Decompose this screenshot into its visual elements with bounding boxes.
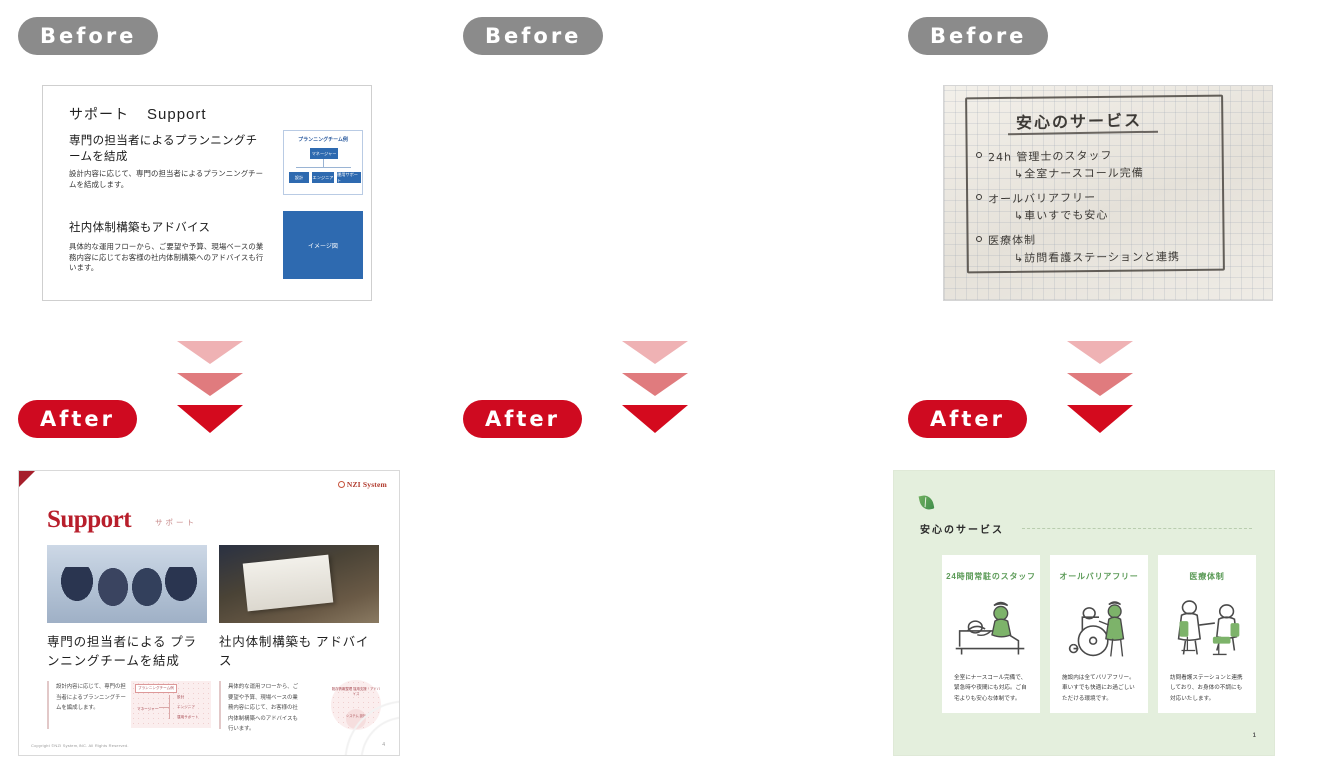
- diagram-node-2: 運用サポート: [177, 715, 199, 720]
- org-line-vertical: [323, 159, 324, 167]
- arrow-triangle-light-icon: [622, 341, 688, 364]
- diagram-tag: プランニングチーム例: [135, 684, 177, 693]
- before-support-body-2: 具体的な運用フローから、ご要望や予算、現場ベースの業務内容に応じてお客様の社内体…: [69, 242, 265, 274]
- column-kankeijinko: Before 関係人口とは 関係人口とは、移住した定住者でもなく、一時的な観光に…: [890, 0, 1333, 775]
- diagram-node-1: エンジニア: [177, 705, 195, 710]
- before-slide-support: サポートSupport 専門の担当者によるプランニングチームを結成 設計内容に応…: [42, 85, 372, 301]
- transition-arrows-1: [177, 341, 243, 433]
- diagram-line-vertical: [169, 695, 170, 719]
- transition-arrows-3: [1067, 341, 1133, 433]
- arrow-triangle-mid-icon: [622, 373, 688, 396]
- before-badge-3: Before: [908, 17, 1048, 55]
- after-badge-3: After: [908, 400, 1027, 438]
- before-badge-1: Before: [18, 17, 158, 55]
- after-support-block-1: 設計内容に応じて、専門の担当者によるプランニングチームを編成します。 プランニン…: [47, 681, 211, 729]
- after-support-body-1: 設計内容に応じて、専門の担当者によるプランニングチームを編成します。: [56, 682, 128, 714]
- logo-text: NZI System: [347, 480, 387, 489]
- after-slide-support: NZI System Support サポート 専門の担当者による プランニング…: [18, 470, 400, 756]
- team-photo: [47, 545, 207, 623]
- corner-accent: [19, 471, 35, 487]
- before-support-heading-1: 専門の担当者によるプランニングチームを結成: [69, 134, 269, 165]
- column-support: Before サポートSupport 専門の担当者によるプランニングチームを結成…: [0, 0, 445, 775]
- accent-bar: [47, 681, 49, 729]
- before-org-chart: プランニングチーム例 マネージャー 設計 エンジニア 運用サポート: [283, 130, 363, 195]
- diagram-line-horizontal: [159, 707, 169, 708]
- diagram-manager: マネージャー: [137, 707, 158, 712]
- arrow-triangle-light-icon: [177, 341, 243, 364]
- org-node-2: 運用サポート: [337, 172, 361, 183]
- transition-arrows-2: [622, 341, 688, 433]
- after-support-page-number: 4: [382, 742, 385, 748]
- nzi-system-logo: NZI System: [338, 480, 387, 489]
- after-support-title-en: Support: [47, 506, 131, 534]
- after-support-title-ja: サポート: [155, 517, 197, 528]
- title-ja: サポート: [69, 106, 129, 122]
- after-support-footer: Copyright ©NZI System,INC. All Rights Re…: [31, 743, 129, 748]
- before-image-placeholder: イメージ図: [283, 211, 363, 279]
- after-badge-2: After: [463, 400, 582, 438]
- org-node-0: 設計: [289, 172, 309, 183]
- arrow-triangle-dark-icon: [1067, 405, 1133, 433]
- accent-bar: [219, 681, 221, 729]
- arrow-triangle-mid-icon: [1067, 373, 1133, 396]
- arrow-triangle-dark-icon: [622, 405, 688, 433]
- org-node-1: エンジニア: [312, 172, 334, 183]
- logo-ring-icon: [338, 481, 345, 488]
- title-en: Support: [147, 106, 207, 123]
- after-org-diagram: プランニングチーム例 マネージャー 設計 エンジニア 運用サポート: [131, 681, 211, 728]
- meeting-photo: [219, 545, 379, 623]
- arrow-triangle-dark-icon: [177, 405, 243, 433]
- org-chart-caption: プランニングチーム例: [284, 136, 362, 143]
- after-support-heading-2: 社内体制構築も アドバイス: [219, 633, 379, 672]
- before-badge-2: Before: [463, 17, 603, 55]
- diagram-node-0: 設計: [177, 695, 184, 700]
- after-badge-1: After: [18, 400, 137, 438]
- arrow-triangle-mid-icon: [177, 373, 243, 396]
- after-support-heading-1: 専門の担当者による プランニングチームを結成: [47, 633, 207, 672]
- arrow-triangle-light-icon: [1067, 341, 1133, 364]
- decorative-swirl: [335, 695, 400, 756]
- org-node-manager: マネージャー: [310, 148, 338, 159]
- before-support-heading-2: 社内体制構築もアドバイス: [69, 221, 279, 237]
- org-line-horizontal: [296, 167, 351, 168]
- after-support-body-2: 具体的な運用フローから、ご要望や予算、現場ベースの業務内容に応じて、お客様の社内…: [228, 682, 300, 735]
- column-anshin: Before 安心のサービス 24h 管理士のスタッフ ↳全室ナースコール完備 …: [445, 0, 890, 775]
- before-support-title: サポートSupport: [69, 104, 207, 124]
- before-support-body-1: 設計内容に応じて、専門の担当者によるプランニングチームを結成します。: [69, 169, 267, 190]
- comparison-page: Before サポートSupport 専門の担当者によるプランニングチームを結成…: [0, 0, 1333, 775]
